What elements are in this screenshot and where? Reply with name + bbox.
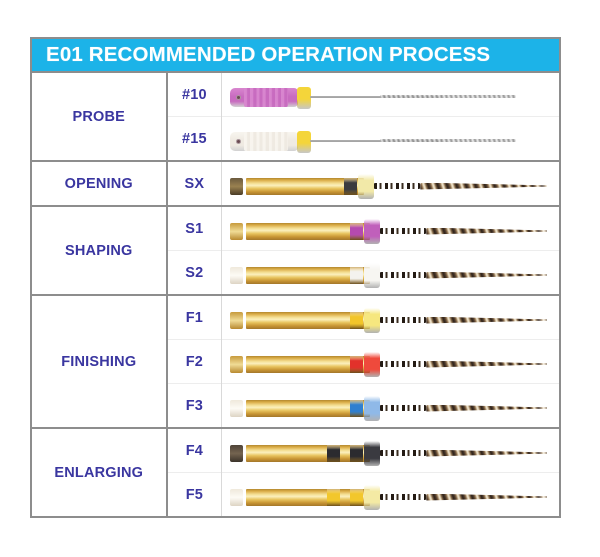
file-image-wrapper bbox=[222, 117, 559, 160]
file-image-wrapper bbox=[222, 73, 559, 116]
file-shaft-markings bbox=[380, 317, 426, 323]
endodontic-hand-file-15 bbox=[230, 124, 555, 154]
stage-cell-finishing[interactable]: FINISHING bbox=[31, 295, 167, 428]
size-label: F1 bbox=[186, 310, 203, 326]
rotary-file-f3 bbox=[230, 391, 555, 421]
stage-label: ENLARGING bbox=[54, 465, 143, 481]
file-image-cell bbox=[222, 161, 560, 206]
stage-label: PROBE bbox=[72, 109, 125, 125]
file-handle-butt bbox=[230, 267, 243, 284]
size-label: F4 bbox=[186, 443, 203, 459]
process-table-body: PROBE#10#15OPENINGSXSHAPINGS1S2FINISHING… bbox=[31, 72, 560, 517]
file-cutting-flutes bbox=[426, 228, 547, 235]
file-cutting-flutes bbox=[426, 317, 547, 324]
size-cell[interactable]: SX bbox=[167, 161, 222, 206]
rotary-file-f5 bbox=[230, 480, 555, 510]
file-identification-band bbox=[350, 312, 363, 329]
size-label: #10 bbox=[182, 87, 207, 103]
file-image-cell bbox=[222, 72, 560, 117]
chart-title-bar: E01 RECOMMENDED OPERATION PROCESS bbox=[30, 37, 561, 71]
file-handle-butt bbox=[230, 489, 243, 506]
size-cell[interactable]: #15 bbox=[167, 117, 222, 162]
file-image-wrapper bbox=[222, 251, 559, 294]
size-label: F2 bbox=[186, 354, 203, 370]
file-shaft-markings bbox=[380, 272, 426, 278]
size-label: F5 bbox=[186, 487, 203, 503]
operation-process-chart: E01 RECOMMENDED OPERATION PROCESS PROBE#… bbox=[30, 37, 561, 520]
stage-cell-opening[interactable]: OPENING bbox=[31, 161, 167, 206]
size-label: S2 bbox=[185, 265, 203, 281]
size-label: F3 bbox=[186, 398, 203, 414]
file-image-wrapper bbox=[222, 340, 559, 383]
file-image-cell bbox=[222, 340, 560, 384]
file-rubber-stop bbox=[364, 441, 380, 466]
file-handle-butt bbox=[230, 178, 243, 195]
file-shaft-markings bbox=[380, 494, 426, 500]
rotary-file-s1 bbox=[230, 214, 555, 244]
stage-cell-enlarging[interactable]: ENLARGING bbox=[31, 428, 167, 517]
file-image-wrapper bbox=[222, 473, 559, 516]
file-image-cell bbox=[222, 206, 560, 251]
file-shaft-markings bbox=[380, 405, 426, 411]
file-shaft-markings bbox=[374, 183, 420, 189]
file-image-wrapper bbox=[222, 384, 559, 427]
file-identification-band bbox=[350, 267, 363, 284]
file-handle-ribs bbox=[244, 132, 288, 151]
size-cell[interactable]: F3 bbox=[167, 384, 222, 429]
file-handle-butt bbox=[230, 223, 243, 240]
table-row: SHAPINGS1 bbox=[31, 206, 560, 251]
file-shaft-markings bbox=[380, 228, 426, 234]
rotary-file-f2 bbox=[230, 347, 555, 377]
rotary-file-f4 bbox=[230, 436, 555, 466]
size-cell[interactable]: F5 bbox=[167, 473, 222, 518]
page-title: E01 RECOMMENDED OPERATION PROCESS bbox=[46, 43, 490, 67]
file-handle-butt bbox=[230, 400, 243, 417]
rotary-file-f1 bbox=[230, 303, 555, 333]
file-shaft-markings bbox=[380, 361, 426, 367]
endodontic-hand-file-10 bbox=[230, 80, 555, 110]
file-cutting-flutes bbox=[426, 361, 547, 368]
size-cell[interactable]: F4 bbox=[167, 428, 222, 473]
file-rubber-stop bbox=[364, 308, 380, 333]
size-label: S1 bbox=[185, 221, 203, 237]
stage-cell-shaping[interactable]: SHAPING bbox=[31, 206, 167, 295]
file-identification-band bbox=[350, 400, 363, 417]
file-cutting-flutes bbox=[380, 95, 516, 98]
file-rubber-stop bbox=[364, 396, 380, 421]
file-handle-ribs bbox=[244, 88, 288, 107]
process-table: PROBE#10#15OPENINGSXSHAPINGS1S2FINISHING… bbox=[30, 71, 561, 518]
file-image-cell bbox=[222, 473, 560, 518]
file-image-cell bbox=[222, 428, 560, 473]
file-identification-band bbox=[350, 356, 363, 373]
file-rubber-stop bbox=[297, 131, 311, 153]
stage-label: OPENING bbox=[65, 176, 133, 192]
rotary-file-sx bbox=[230, 169, 555, 199]
file-handle-marker bbox=[236, 95, 241, 100]
file-identification-band bbox=[327, 445, 340, 462]
file-handle-butt bbox=[230, 312, 243, 329]
size-cell[interactable]: F1 bbox=[167, 295, 222, 340]
table-row: OPENINGSX bbox=[31, 161, 560, 206]
size-cell[interactable]: #10 bbox=[167, 72, 222, 117]
table-row: FINISHINGF1 bbox=[31, 295, 560, 340]
file-cutting-flutes bbox=[426, 450, 547, 457]
file-image-wrapper bbox=[222, 296, 559, 339]
file-cutting-flutes bbox=[426, 405, 547, 412]
table-row: PROBE#10 bbox=[31, 72, 560, 117]
file-identification-band bbox=[350, 489, 363, 506]
file-cutting-flutes bbox=[380, 139, 516, 142]
file-image-wrapper bbox=[222, 207, 559, 250]
file-image-cell bbox=[222, 295, 560, 340]
file-image-wrapper bbox=[222, 429, 559, 472]
stage-cell-probe[interactable]: PROBE bbox=[31, 72, 167, 161]
file-handle-butt bbox=[230, 356, 243, 373]
file-identification-band bbox=[350, 445, 363, 462]
file-image-cell bbox=[222, 384, 560, 429]
file-shaft-markings bbox=[380, 450, 426, 456]
file-rubber-stop bbox=[358, 174, 374, 199]
stage-label: FINISHING bbox=[61, 354, 136, 370]
size-cell[interactable]: S1 bbox=[167, 206, 222, 251]
file-handle-butt bbox=[230, 445, 243, 462]
size-label: SX bbox=[184, 176, 204, 192]
stage-label: SHAPING bbox=[65, 243, 132, 259]
rotary-file-s2 bbox=[230, 258, 555, 288]
file-rubber-stop bbox=[364, 263, 380, 288]
file-rubber-stop bbox=[364, 352, 380, 377]
size-cell[interactable]: S2 bbox=[167, 251, 222, 296]
file-rubber-stop bbox=[364, 485, 380, 510]
file-cutting-flutes bbox=[420, 183, 547, 190]
file-rubber-stop bbox=[297, 87, 311, 109]
size-cell[interactable]: F2 bbox=[167, 340, 222, 384]
file-identification-band bbox=[344, 178, 357, 195]
file-identification-band bbox=[350, 223, 363, 240]
file-cutting-flutes bbox=[426, 272, 547, 279]
size-label: #15 bbox=[182, 131, 207, 147]
file-cutting-flutes bbox=[426, 494, 547, 501]
file-handle-marker bbox=[236, 139, 241, 144]
file-image-wrapper bbox=[222, 162, 559, 205]
table-row: ENLARGINGF4 bbox=[31, 428, 560, 473]
file-image-cell bbox=[222, 117, 560, 162]
file-rubber-stop bbox=[364, 219, 380, 244]
file-identification-band bbox=[327, 489, 340, 506]
file-image-cell bbox=[222, 251, 560, 296]
